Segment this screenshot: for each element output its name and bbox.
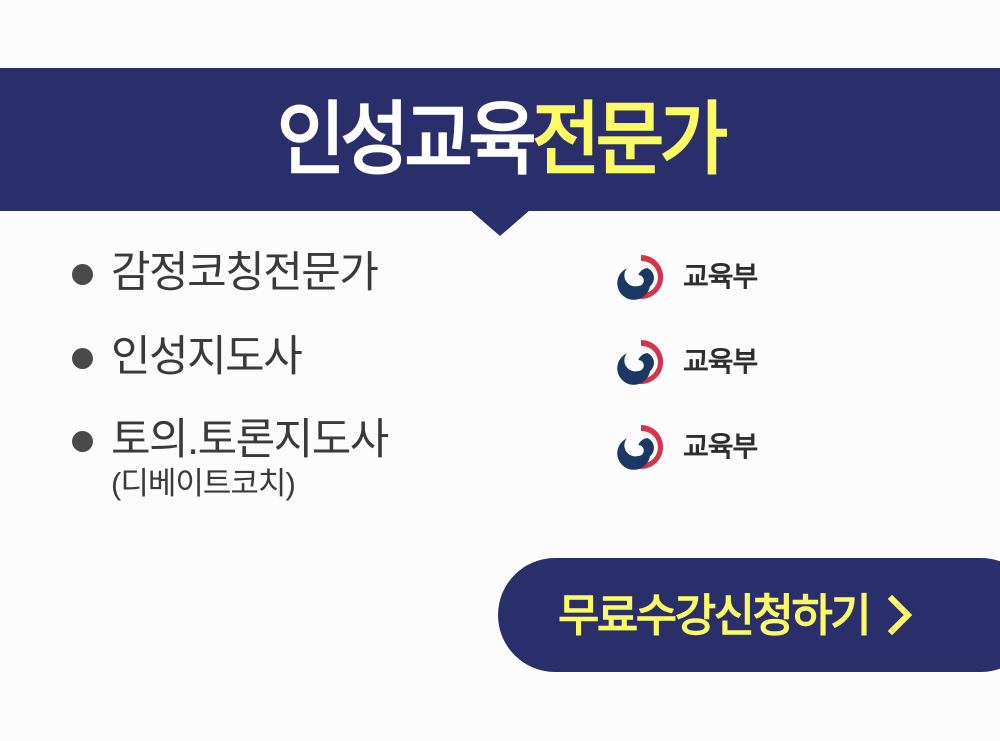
ministry-name-label: 교육부: [683, 263, 757, 291]
free-enrollment-button[interactable]: 무료수강신청하기: [498, 558, 1000, 672]
promotional-banner: 인성교육전문가 감정코칭전문가 인성지도사 토의.토론지: [0, 0, 1000, 741]
ministry-logo-column: 교육부 교육부 교육부: [616, 254, 946, 470]
ministry-name-label: 교육부: [683, 433, 757, 461]
bullet-dot-icon: [72, 348, 93, 369]
ministry-logo-row: 교육부: [616, 254, 946, 300]
certification-sublabel: (디베이트코치): [111, 465, 542, 504]
korea-government-taeguk-emblem: [616, 337, 666, 387]
list-item: 감정코칭전문가: [72, 248, 542, 300]
list-item-row: 인성지도사: [72, 332, 542, 384]
korea-government-taeguk-emblem: [616, 422, 666, 472]
title-primary-text: 인성교육: [277, 95, 532, 184]
list-item: 토의.토론지도사 (디베이트코치): [72, 415, 542, 503]
chevron-right-icon: [887, 595, 913, 635]
cta-button-label: 무료수강신청하기: [558, 593, 869, 638]
ministry-logo-row: 교육부: [616, 424, 946, 470]
list-item: 인성지도사: [72, 332, 542, 384]
korea-government-taeguk-emblem: [616, 252, 666, 302]
certification-label: 토의.토론지도사: [111, 415, 388, 467]
ministry-logo-row: 교육부: [616, 339, 946, 385]
list-item-row: 토의.토론지도사: [72, 415, 542, 467]
banner-header-band: 인성교육전문가: [0, 68, 1000, 211]
triangle-down-icon: [470, 210, 530, 236]
certification-label: 인성지도사: [111, 332, 301, 384]
certification-list: 감정코칭전문가 인성지도사 토의.토론지도사 (디베이트코치): [72, 248, 542, 504]
banner-body: 감정코칭전문가 인성지도사 토의.토론지도사 (디베이트코치): [0, 240, 1000, 540]
title-accent-text: 전문가: [532, 95, 723, 184]
list-item-row: 감정코칭전문가: [72, 248, 542, 300]
bullet-dot-icon: [72, 264, 93, 285]
ministry-name-label: 교육부: [683, 348, 757, 376]
certification-label: 감정코칭전문가: [111, 248, 377, 300]
bullet-dot-icon: [72, 431, 93, 452]
page-title: 인성교육전문가: [277, 100, 724, 180]
